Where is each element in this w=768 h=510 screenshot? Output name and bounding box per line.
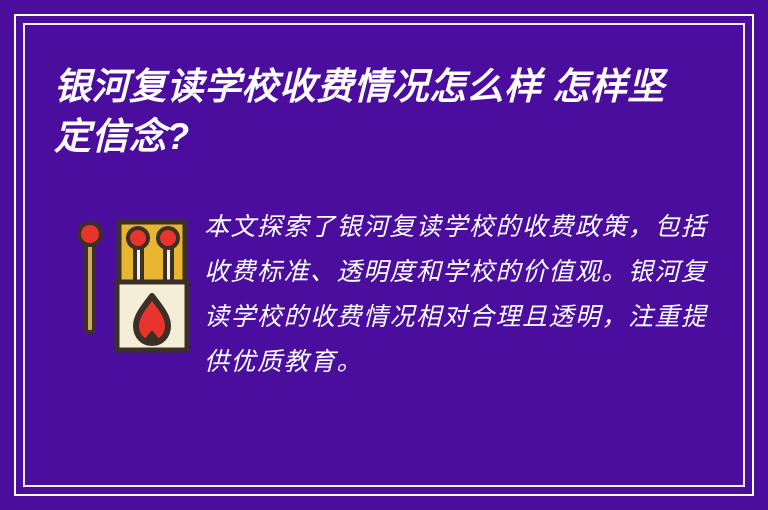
- matchbox-sleeve-icon: [117, 282, 187, 350]
- illustration-container: [54, 200, 204, 357]
- poster-canvas: 银河复读学校收费情况怎么样 怎样坚定信念?: [0, 0, 768, 510]
- single-match-icon: [79, 223, 101, 332]
- page-title: 银河复读学校收费情况怎么样 怎样坚定信念?: [54, 62, 694, 162]
- body-paragraph: 本文探索了银河复读学校的收费政策，包括收费标准、透明度和学校的价值观。银河复读学…: [204, 200, 718, 384]
- matchbox-tray-icon: [119, 222, 185, 286]
- matchbox-icon: [69, 212, 189, 357]
- content-row: 本文探索了银河复读学校的收费政策，包括收费标准、透明度和学校的价值观。银河复读学…: [54, 200, 718, 384]
